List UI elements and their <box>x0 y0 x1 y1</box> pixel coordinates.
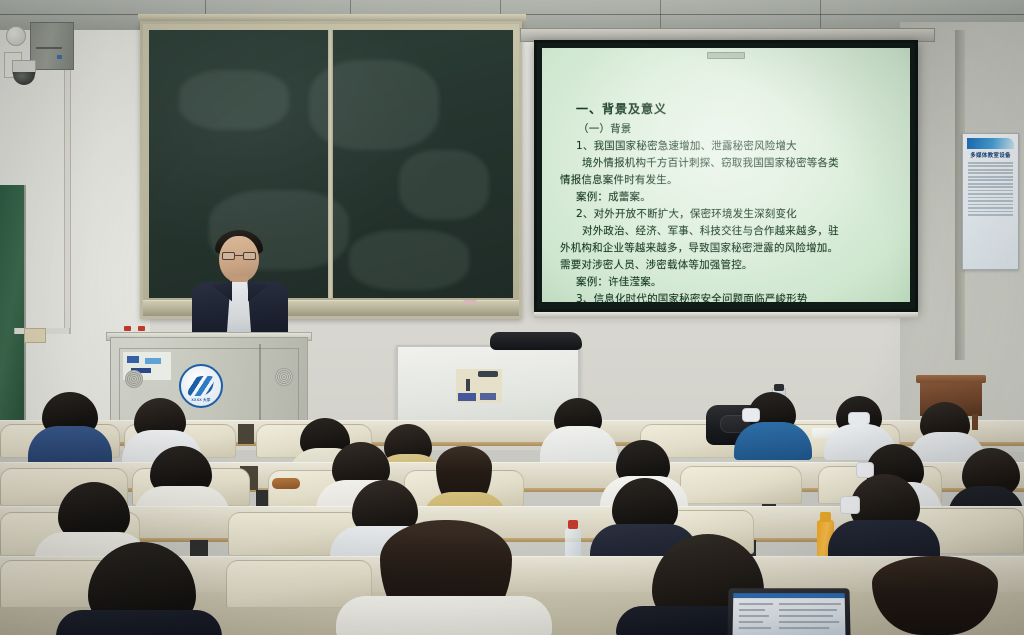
laptop[interactable] <box>728 588 850 635</box>
lecture-hall-photo: 一、背景及意义 （一）背景 1、我国国家秘密急速增加、泄露秘密风险增大 境外情报… <box>0 0 1024 635</box>
glasses-icon <box>222 252 256 260</box>
wall-sensor <box>6 26 26 46</box>
whiteboard <box>396 345 580 431</box>
laptop-lid <box>727 588 850 635</box>
slide-line-10: 3、信息化时代的国家秘密安全问题面临严峻形势 <box>576 291 898 302</box>
speaker-person <box>186 228 294 340</box>
laptop-screen[interactable] <box>733 593 846 635</box>
slide-line-1: 1、我国国家秘密急速增加、泄露秘密风险增大 <box>576 138 898 155</box>
podium-speaker-left <box>125 370 143 388</box>
poster-title: 多媒体教室设备 <box>967 151 1014 159</box>
wall-poster: 多媒体教室设备 <box>962 133 1019 270</box>
projected-slide: 一、背景及意义 （一）背景 1、我国国家秘密急速增加、泄露秘密风险增大 境外情报… <box>542 48 910 302</box>
marker-red-1[interactable] <box>124 326 131 331</box>
slide-toolbar[interactable] <box>707 52 745 59</box>
marker-red-2[interactable] <box>138 326 145 331</box>
chalk-piece[interactable] <box>463 300 477 304</box>
slide-heading: 一、背景及意义 <box>576 100 898 119</box>
slide-line-9: 案例：许佳滢案。 <box>576 274 898 291</box>
podium-divider <box>259 344 261 430</box>
slide-line-6: 对外政治、经济、军事、科技交往与合作越来越多，驻 <box>582 223 898 240</box>
poster-swoosh-icon <box>967 138 1014 149</box>
slide-line-3: 情报信息案件时有发生。 <box>560 172 898 189</box>
projector-screen: 一、背景及意义 （一）背景 1、我国国家秘密急速增加、泄露秘密风险增大 境外情报… <box>534 40 918 312</box>
slide-subheading: （一）背景 <box>578 121 898 138</box>
wall-conduit-vertical <box>64 34 71 334</box>
slide-line-2: 境外情报机构千方百计刺探、窃取我国国家秘密等各类 <box>582 155 898 172</box>
pencil-case[interactable] <box>272 478 300 489</box>
face-mask <box>742 408 760 422</box>
status-led <box>57 55 62 59</box>
podium-speaker-right <box>275 368 293 386</box>
slide-line-7: 外机构和企业等越来越多，导致国家秘密泄露的风险增加。 <box>560 240 898 257</box>
electrical-box <box>30 22 74 70</box>
seat[interactable] <box>680 466 802 504</box>
whiteboard-sticker <box>456 369 502 403</box>
wall-outlet[interactable] <box>24 328 46 343</box>
slide-line-4: 案例：成蕾案。 <box>576 189 898 206</box>
slide-line-5: 2、对外开放不断扩大，保密环境发生深刻变化 <box>576 206 898 223</box>
bag-on-whiteboard <box>490 332 582 350</box>
slide-line-8: 需要对涉密人员、涉密载体等加强管控。 <box>560 257 898 274</box>
door-left[interactable] <box>0 185 26 430</box>
university-logo-icon: XXXX 大学 <box>179 364 223 408</box>
university-logo-text: XXXX 大学 <box>181 398 221 403</box>
face-mask <box>840 496 860 514</box>
screen-bottom-bar <box>534 312 918 318</box>
